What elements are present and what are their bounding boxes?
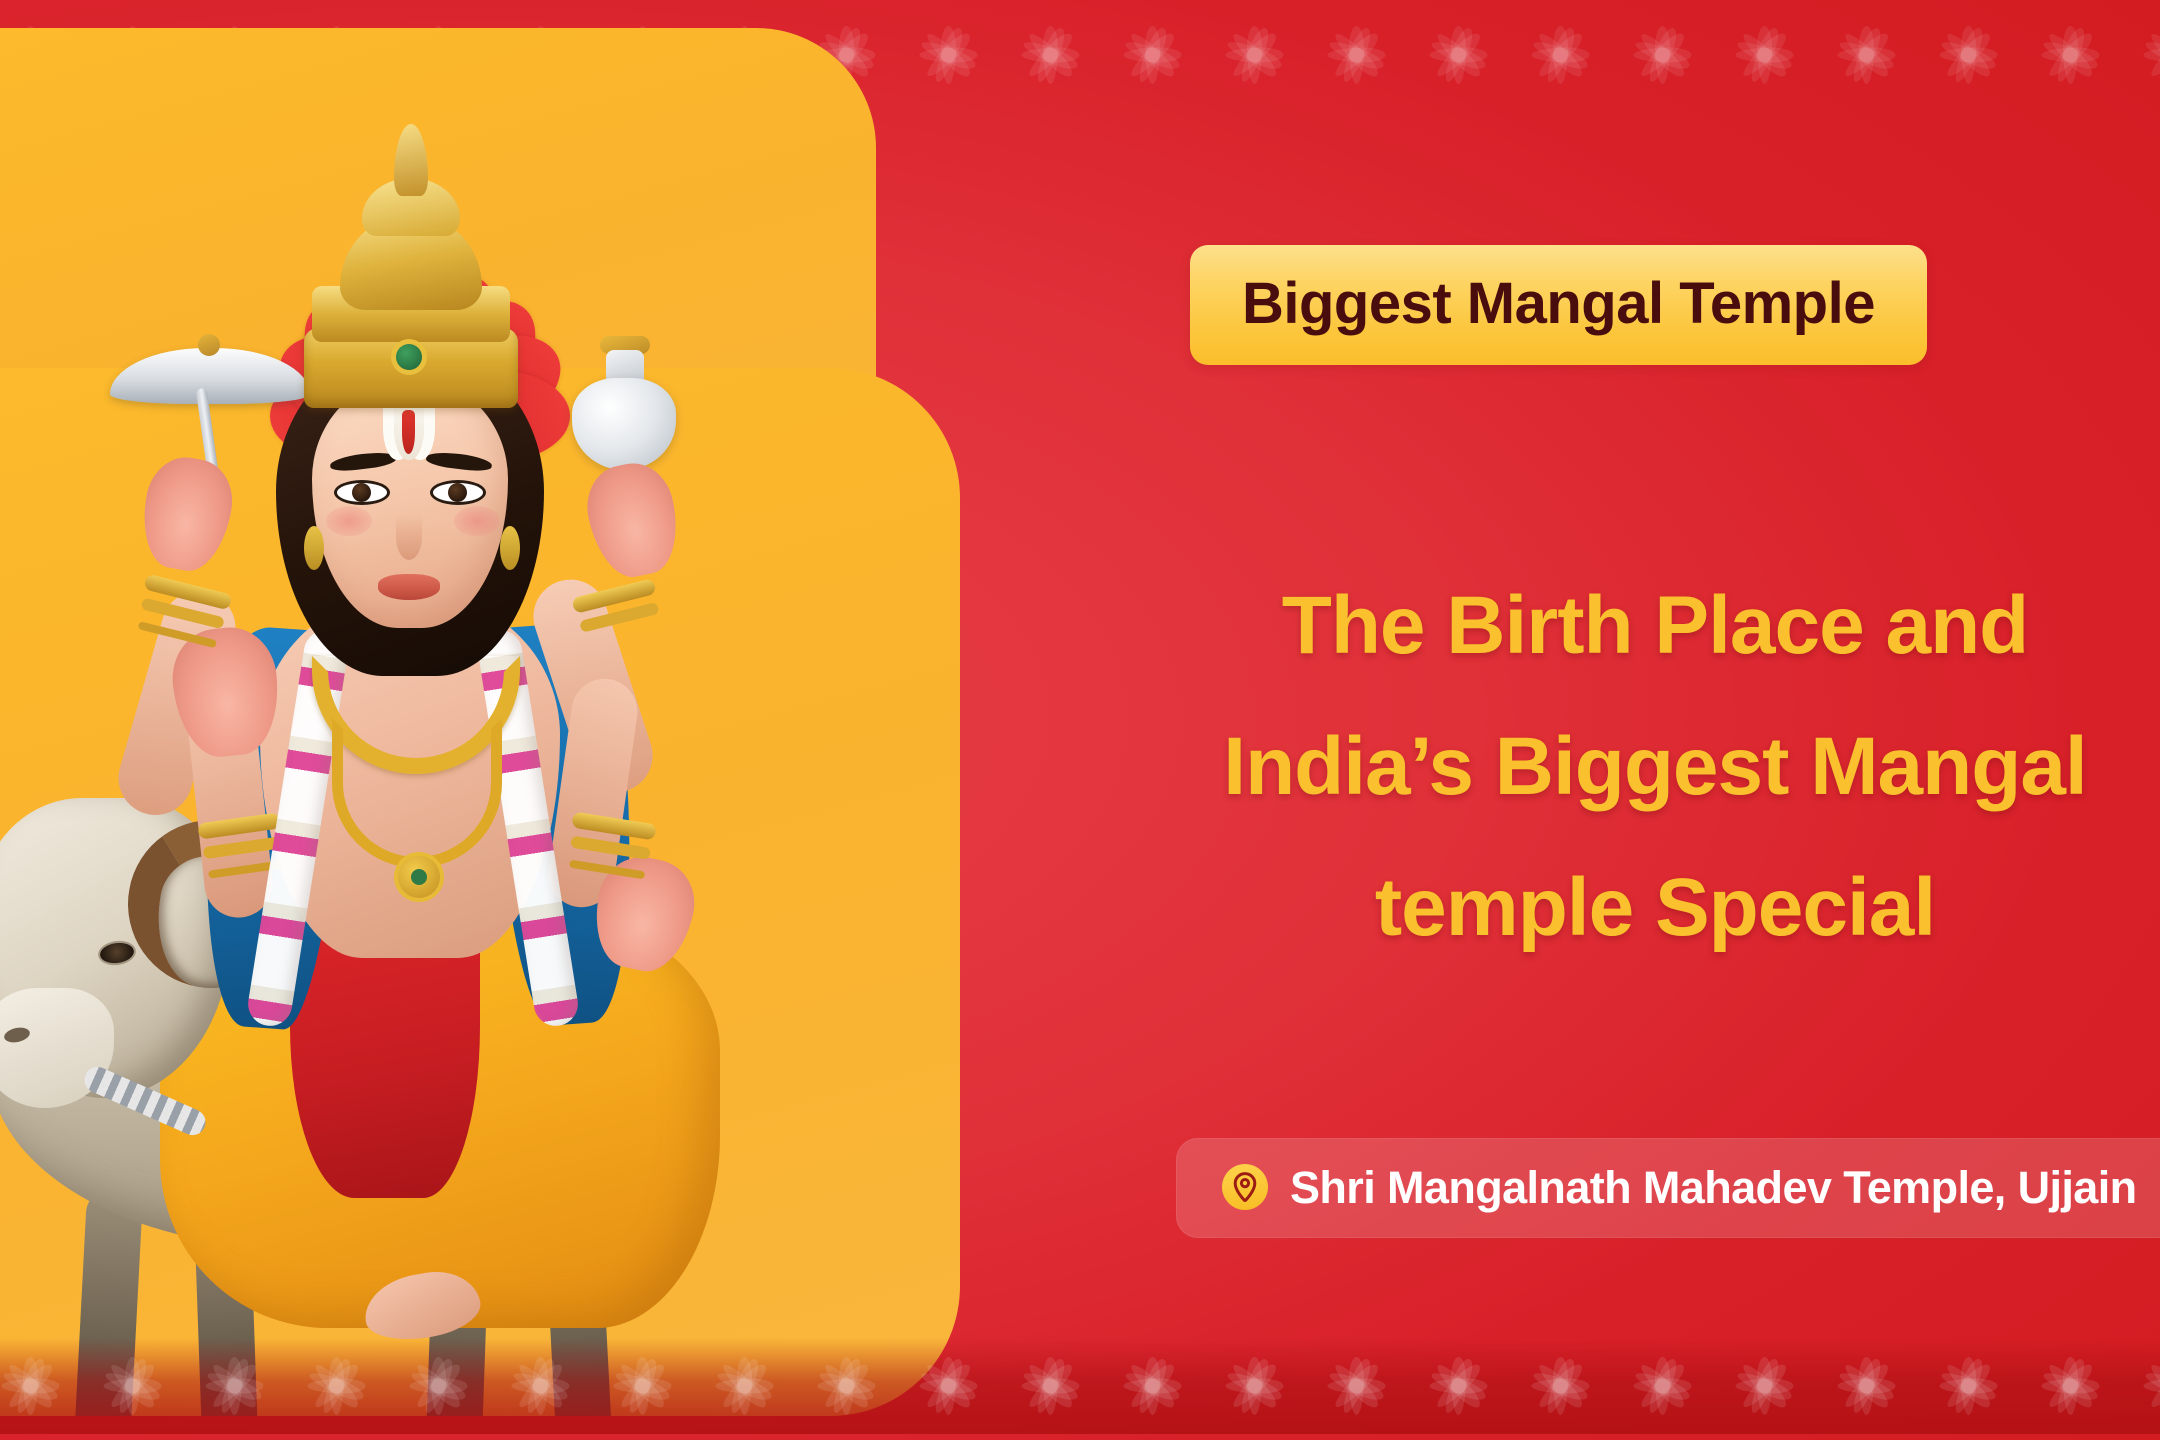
deity-cheek — [454, 506, 500, 536]
deity-eye — [334, 480, 390, 505]
parasol-icon — [110, 348, 310, 404]
flower-motif-icon — [1020, 25, 1080, 85]
tilaka-mark-red — [402, 410, 415, 454]
crown-spire — [394, 124, 428, 196]
deity-pendant — [398, 856, 440, 898]
headline-line-2: India’s Biggest Mangal — [1150, 696, 2160, 837]
deity-lips — [378, 574, 440, 600]
deity-cheek — [326, 506, 372, 536]
page-title: The Birth Place and India’s Biggest Mang… — [1150, 555, 2160, 978]
deity-earring — [304, 526, 324, 570]
deity-hand-upper-right — [579, 456, 686, 583]
deity-illustration — [0, 28, 960, 1416]
deity-nose — [396, 514, 422, 560]
flower-motif-icon — [1020, 1356, 1080, 1416]
parasol-knob — [198, 334, 220, 356]
content-column: Biggest Mangal Temple The Birth Place an… — [1150, 0, 2160, 1440]
location-label: Shri Mangalnath Mahadev Temple, Ujjain — [1290, 1165, 2137, 1210]
promo-banner: Biggest Mangal Temple The Birth Place an… — [0, 0, 2160, 1440]
badge-biggest-mangal-temple: Biggest Mangal Temple — [1190, 245, 1927, 365]
location-pin-icon — [1222, 1164, 1268, 1210]
badge-label: Biggest Mangal Temple — [1242, 275, 1875, 333]
headline-line-3: temple Special — [1150, 837, 2160, 978]
location-pill: Shri Mangalnath Mahadev Temple, Ujjain — [1176, 1138, 2160, 1238]
ram-leg — [73, 1187, 144, 1416]
kalash-icon — [572, 378, 676, 470]
deity-eye — [430, 480, 486, 505]
deity-hand-upper-left — [135, 451, 239, 576]
crown-gem — [396, 344, 422, 370]
deity-earring — [500, 526, 520, 570]
headline-line-1: The Birth Place and — [1150, 555, 2160, 696]
